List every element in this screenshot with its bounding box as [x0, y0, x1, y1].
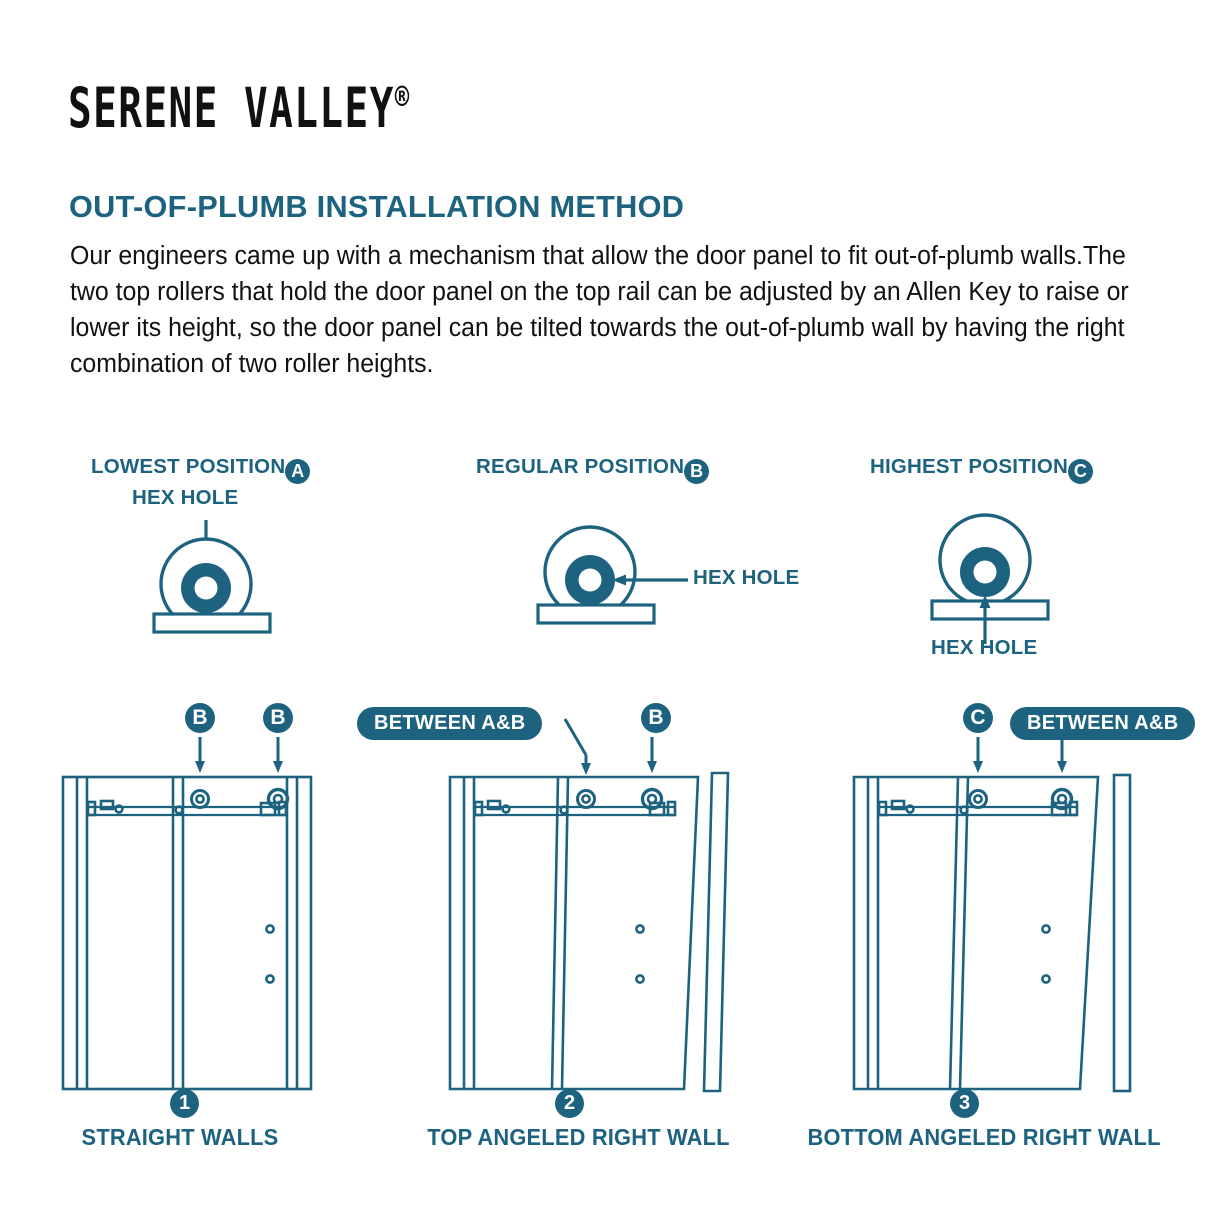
door-diagram-bottom-angled: [840, 733, 1170, 1153]
badge-c: C: [1068, 459, 1093, 484]
hex-hole-label-c: HEX HOLE: [931, 636, 1037, 660]
callout-badge-1b: B: [263, 703, 293, 733]
diagram-caption-1: STRAIGHT WALLS: [61, 1124, 299, 1151]
roller-diagram-highest: HIGHEST POSITIONC HEX HOLE: [0, 0, 430, 680]
diagram-number-3: 3: [950, 1089, 979, 1118]
diagram-caption-2: TOP ANGELED RIGHT WALL: [427, 1124, 703, 1151]
door-diagram-straight-walls: [55, 733, 375, 1153]
badge-b: B: [684, 459, 709, 484]
roller-title-text: HIGHEST POSITION: [870, 455, 1068, 478]
roller-graphic-b: [520, 500, 850, 640]
callout-badge-1a: B: [185, 703, 215, 733]
roller-title-highest: HIGHEST POSITIONC: [870, 455, 1093, 484]
hex-hole-label-b: HEX HOLE: [693, 566, 799, 590]
infographic-page: SERENE VALLEY® OUT-OF-PLUMB INSTALLATION…: [0, 0, 1214, 1214]
diagram-number-2: 2: [555, 1089, 584, 1118]
roller-title-regular: REGULAR POSITIONB: [476, 455, 709, 484]
diagram-caption-3: BOTTOM ANGELED RIGHT WALL: [808, 1124, 1093, 1151]
callout-badge-2: B: [641, 703, 671, 733]
callout-badge-3: C: [963, 703, 993, 733]
roller-title-text: REGULAR POSITION: [476, 455, 684, 478]
door-diagram-top-angled: [440, 733, 770, 1153]
diagram-number-1: 1: [170, 1089, 199, 1118]
